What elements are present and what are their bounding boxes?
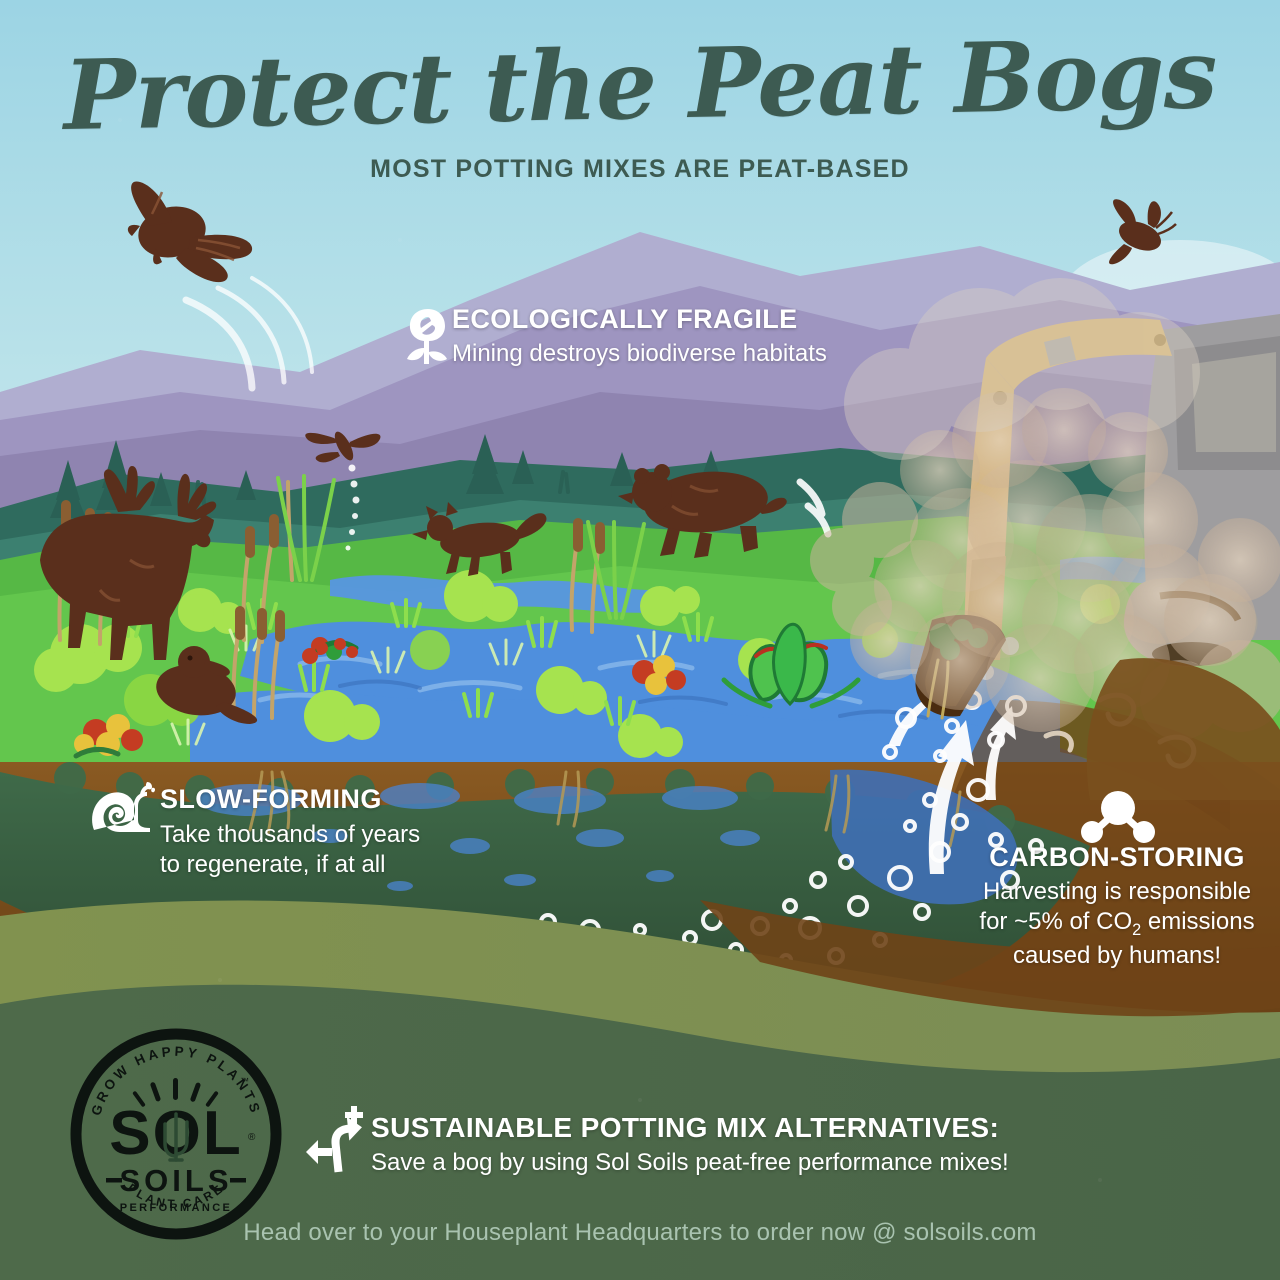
branching-arrow-icon [306,1104,368,1174]
infographic-poster: Protect the Peat Bogs MOST POTTING MIXES… [0,0,1280,1280]
molecule-icon [1078,790,1158,846]
flower-sprout-icon [405,306,449,368]
logo-registered: ® [248,1132,256,1143]
callout-heading: SLOW-FORMING [160,785,490,815]
alternatives-heading: SUSTAINABLE POTTING MIX ALTERNATIVES: [371,1113,1071,1144]
co2-text-after: emissions [1141,908,1254,935]
callout-body-line-3: caused by humans! [962,941,1272,972]
callout-body-line-2: for ~5% of CO2 emissions [962,907,1272,941]
callout-heading: CARBON-STORING [962,843,1272,873]
snail-icon [88,782,156,836]
callout-alternatives: SUSTAINABLE POTTING MIX ALTERNATIVES: Sa… [371,1113,1071,1179]
sol-soils-logo[interactable]: GROW HAPPY PLANTS ™ SOL ® SOILS PERFORMA… [70,1028,282,1240]
alternatives-body: Save a bog by using Sol Soils peat-free … [371,1148,1071,1179]
callout-heading: ECOLOGICALLY FRAGILE [452,305,922,335]
callout-carbon-storing: CARBON-STORING Harvesting is responsible… [962,843,1272,972]
co2-subscript: 2 [1132,921,1141,939]
callout-body-line-1: Take thousands of years [160,820,490,851]
callout-body: Mining destroys biodiverse habitats [452,339,922,370]
logo-trademark: ™ [240,1076,249,1086]
page-title: Protect the Peat Bogs [0,24,1280,146]
callout-ecologically-fragile: ECOLOGICALLY FRAGILE Mining destroys bio… [452,305,922,369]
callout-body-line-1: Harvesting is responsible [962,877,1272,908]
co2-text-before: for ~5% of CO [979,908,1132,935]
callout-body-line-2: to regenerate, if at all [160,850,490,881]
page-subtitle: MOST POTTING MIXES ARE PEAT-BASED [0,155,1280,184]
callout-slow-forming: SLOW-FORMING Take thousands of years to … [160,785,490,881]
